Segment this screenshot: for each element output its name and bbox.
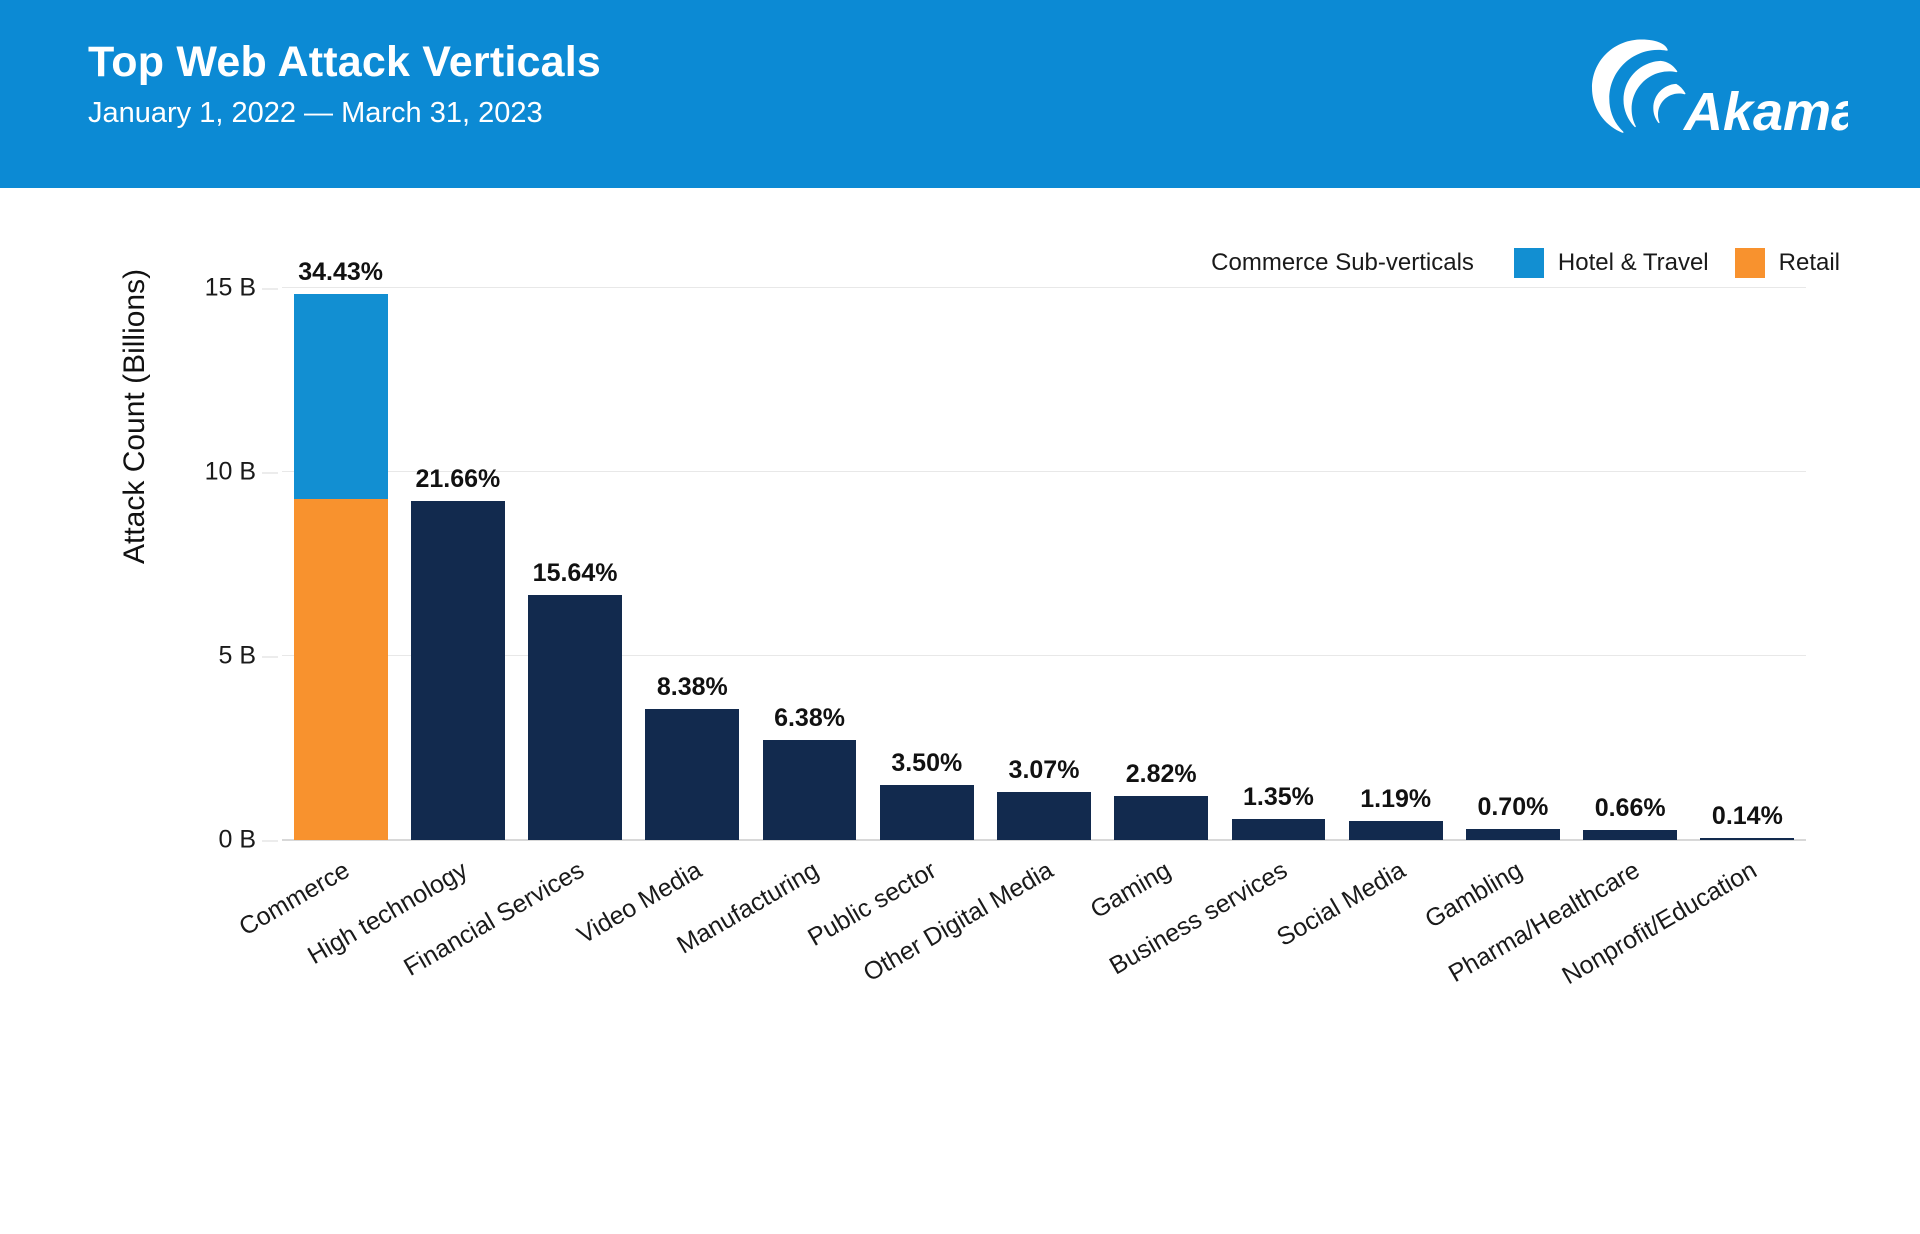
x-axis-tick-gaming: Gaming: [1085, 856, 1175, 925]
bar-group[interactable]: 8.38%Video Media: [645, 288, 739, 840]
bar-group[interactable]: 0.14%Nonprofit/Education: [1700, 288, 1794, 840]
bar[interactable]: 1.19%: [1349, 821, 1443, 840]
bar-series: 34.43%Commerce21.66%High technology15.64…: [282, 288, 1806, 840]
x-axis-tick-other-digital-media: Other Digital Media: [859, 856, 1059, 988]
bar-value-label: 0.66%: [1595, 794, 1666, 823]
bar[interactable]: 1.35%: [1232, 819, 1326, 840]
bar-value-label: 0.70%: [1477, 793, 1548, 822]
y-axis-tick: 5 B: [218, 642, 282, 671]
x-axis-tick-gambling: Gambling: [1420, 856, 1527, 935]
bar-value-label: 21.66%: [415, 465, 500, 494]
bar-value-label: 0.14%: [1712, 802, 1783, 831]
bar[interactable]: 0.70%: [1466, 829, 1560, 840]
bar-group[interactable]: 6.38%Manufacturing: [763, 288, 857, 840]
bar-segment-other-verticals[interactable]: [528, 595, 622, 840]
bar[interactable]: 3.07%: [997, 792, 1091, 840]
bar-segment-other-verticals[interactable]: [880, 785, 974, 840]
bar-segment-other-verticals[interactable]: [1349, 821, 1443, 840]
y-axis-label: Attack Count (Billions): [118, 269, 152, 564]
x-axis-tick-nonprofit-education: Nonprofit/Education: [1557, 856, 1762, 991]
akamai-logo: Akamai: [1576, 30, 1848, 146]
bar-segment-other-verticals[interactable]: [1583, 830, 1677, 840]
bar-group[interactable]: 1.19%Social Media: [1349, 288, 1443, 840]
bar-value-label: 1.35%: [1243, 783, 1314, 812]
bar-value-label: 15.64%: [533, 559, 618, 588]
bar-segment-other-verticals[interactable]: [1466, 829, 1560, 840]
y-axis-tick: 0 B: [218, 826, 282, 855]
bar[interactable]: 0.14%: [1700, 838, 1794, 840]
bar[interactable]: 6.38%: [763, 740, 857, 840]
bar-group[interactable]: 2.82%Gaming: [1114, 288, 1208, 840]
bar-value-label: 3.50%: [891, 749, 962, 778]
y-axis-tick: 15 B: [205, 274, 282, 303]
bar-segment-other-verticals[interactable]: [763, 740, 857, 840]
bar[interactable]: 8.38%: [645, 709, 739, 840]
bar-segment-hotel-travel[interactable]: [294, 294, 388, 499]
bar-group[interactable]: 1.35%Business services: [1232, 288, 1326, 840]
bar-segment-other-verticals[interactable]: [1114, 796, 1208, 840]
bar-segment-other-verticals[interactable]: [1700, 838, 1794, 840]
bar-group[interactable]: 0.70%Gambling: [1466, 288, 1560, 840]
bar-group[interactable]: 34.43%Commerce: [294, 288, 388, 840]
bar-value-label: 1.19%: [1360, 785, 1431, 814]
bar-value-label: 8.38%: [657, 673, 728, 702]
bar-chart: Attack Count (Billions) 0 B5 B10 B15 B 3…: [0, 188, 1920, 1234]
y-axis-tick: 10 B: [205, 458, 282, 487]
bar-value-label: 2.82%: [1126, 760, 1197, 789]
bar[interactable]: 0.66%: [1583, 830, 1677, 840]
bar-segment-other-verticals[interactable]: [645, 709, 739, 840]
bar[interactable]: 3.50%: [880, 785, 974, 840]
bar[interactable]: 15.64%: [528, 595, 622, 840]
header-text-block: Top Web Attack Verticals January 1, 2022…: [88, 38, 601, 130]
bar-group[interactable]: 21.66%High technology: [411, 288, 505, 840]
page-title: Top Web Attack Verticals: [88, 38, 601, 87]
page-subtitle: January 1, 2022 — March 31, 2023: [88, 97, 601, 130]
bar-group[interactable]: 3.50%Public sector: [880, 288, 974, 840]
x-axis-tick-social-media: Social Media: [1272, 856, 1410, 953]
bar[interactable]: 2.82%: [1114, 796, 1208, 840]
bar-group[interactable]: 15.64%Financial Services: [528, 288, 622, 840]
bar-value-label: 3.07%: [1009, 756, 1080, 785]
bar-group[interactable]: 0.66%Pharma/Healthcare: [1583, 288, 1677, 840]
bar-value-label: 34.43%: [298, 258, 383, 287]
bar-segment-retail[interactable]: [294, 499, 388, 840]
bar-segment-other-verticals[interactable]: [411, 501, 505, 840]
bar-group[interactable]: 3.07%Other Digital Media: [997, 288, 1091, 840]
bar[interactable]: 34.43%: [294, 294, 388, 840]
plot-area: 0 B5 B10 B15 B 34.43%Commerce21.66%High …: [282, 288, 1806, 840]
bar[interactable]: 21.66%: [411, 501, 505, 840]
bar-segment-other-verticals[interactable]: [997, 792, 1091, 840]
bar-segment-other-verticals[interactable]: [1232, 819, 1326, 840]
bar-value-label: 6.38%: [774, 704, 845, 733]
svg-text:Akamai: Akamai: [1682, 82, 1848, 142]
x-axis-tick-pharma-healthcare: Pharma/Healthcare: [1444, 856, 1645, 989]
page-header: Top Web Attack Verticals January 1, 2022…: [0, 0, 1920, 188]
